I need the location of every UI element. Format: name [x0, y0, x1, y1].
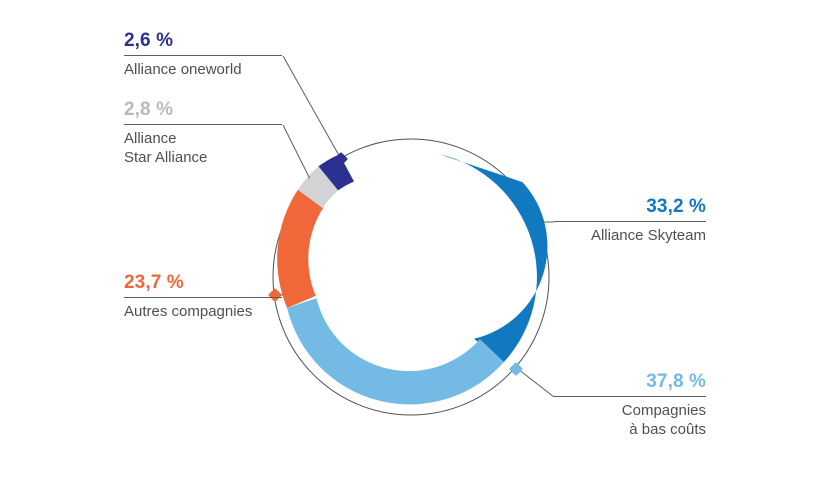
callout-oneworld: 2,6 % Alliance oneworld [124, 30, 282, 79]
leader-line-star-alliance [283, 125, 312, 183]
callout-autres-compagnies-value: 23,7 % [124, 272, 282, 297]
callout-star-alliance-value: 2,8 % [124, 99, 282, 124]
callout-autres-compagnies-label: Autres compagnies [124, 298, 282, 321]
callout-skyteam-value: 33,2 % [554, 196, 706, 221]
callout-skyteam: 33,2 % Alliance Skyteam [554, 196, 706, 245]
leader-line-oneworld [283, 56, 341, 159]
callout-autres-compagnies: 23,7 % Autres compagnies [124, 272, 282, 321]
callout-star-alliance-label: Alliance Star Alliance [124, 125, 282, 167]
donut-slice-autres[interactable] [277, 190, 324, 308]
callout-oneworld-label: Alliance oneworld [124, 56, 282, 79]
donut-slice-lowcost[interactable] [287, 298, 504, 404]
callout-lowcost-value: 37,8 % [554, 371, 706, 396]
callout-lowcost-label: Compagnies à bas coûts [554, 397, 706, 439]
leader-line-lowcost [518, 369, 554, 397]
marker-diamond-lowcost[interactable] [509, 362, 523, 376]
callout-star-alliance: 2,8 % Alliance Star Alliance [124, 99, 282, 167]
donut-slice-skyteam[interactable] [439, 154, 547, 362]
callout-lowcost: 37,8 % Compagnies à bas coûts [554, 371, 706, 439]
callout-skyteam-label: Alliance Skyteam [554, 222, 706, 245]
callout-oneworld-value: 2,6 % [124, 30, 282, 55]
donut-chart-figure: 2,6 % Alliance oneworld 2,8 % Alliance S… [0, 0, 820, 485]
